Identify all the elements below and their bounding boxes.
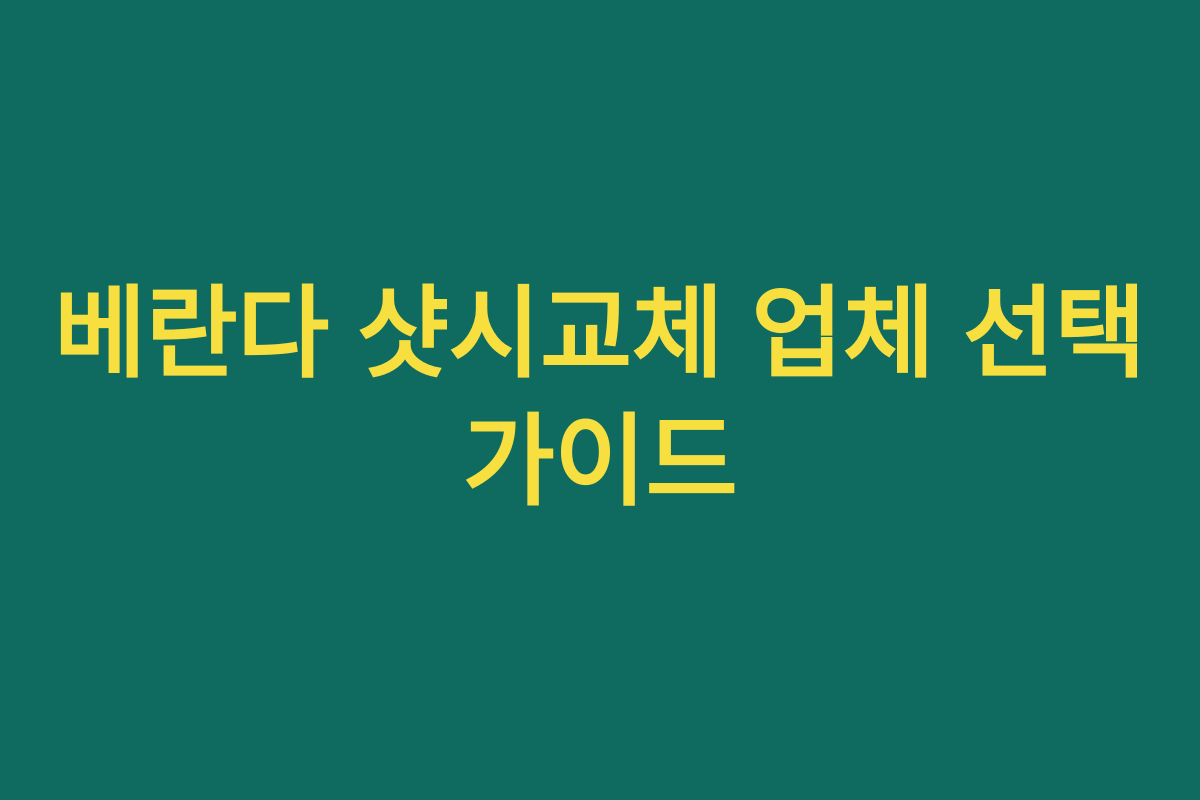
thumbnail-canvas: 베란다 샷시교체 업체 선택 가이드	[0, 0, 1200, 800]
headline-block: 베란다 샷시교체 업체 선택 가이드	[0, 270, 1200, 526]
page-title: 베란다 샷시교체 업체 선택 가이드	[46, 270, 1154, 526]
